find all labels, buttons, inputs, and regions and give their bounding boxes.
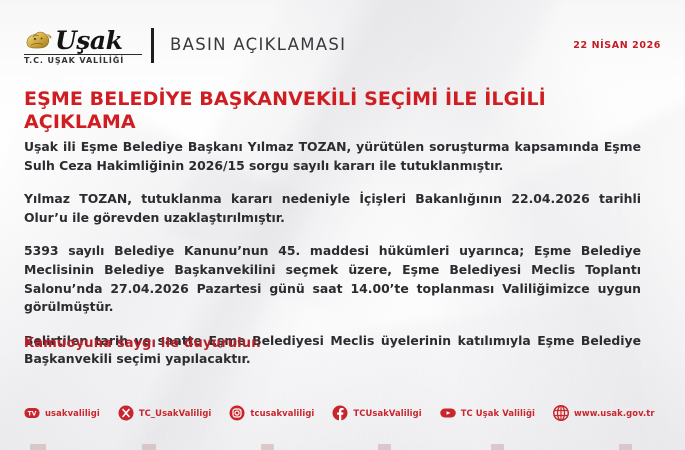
logo-wordmark: Uşak <box>55 29 122 53</box>
tv-icon: TV <box>24 405 40 421</box>
header-date: 22 NİSAN 2026 <box>573 40 661 51</box>
x-twitter-icon <box>118 405 134 421</box>
social-handle: TC Uşak Valiliği <box>461 408 535 418</box>
social-handle: usakvaliligi <box>45 408 100 418</box>
clipped-chip <box>30 444 46 450</box>
clipped-chip <box>378 444 391 450</box>
header-title: BASIN AÇIKLAMASI <box>170 35 346 54</box>
usak-coat-of-arms-icon <box>24 29 54 53</box>
social-handle: tcusakvaliligi <box>250 408 314 418</box>
social-media-bar: TV usakvaliligi TC_UsakValiligi tcusakva… <box>24 405 664 421</box>
page-header: Uşak T.C. UŞAK VALİLİĞİ BASIN AÇIKLAMASI… <box>0 0 685 80</box>
social-link-tv[interactable]: TV usakvaliligi <box>24 405 100 421</box>
clipped-chip <box>142 444 156 450</box>
globe-icon <box>553 405 569 421</box>
press-release-page: Uşak T.C. UŞAK VALİLİĞİ BASIN AÇIKLAMASI… <box>0 0 685 450</box>
social-handle: TC_UsakValiligi <box>139 408 212 418</box>
youtube-icon <box>440 405 456 421</box>
clipped-chip <box>491 444 504 450</box>
social-link-x[interactable]: TC_UsakValiligi <box>118 405 212 421</box>
social-link-facebook[interactable]: TCUsakValiligi <box>332 405 421 421</box>
logo-top-row: Uşak <box>24 27 142 53</box>
social-link-youtube[interactable]: TC Uşak Valiliği <box>440 405 535 421</box>
social-handle: TCUsakValiligi <box>353 408 421 418</box>
clipped-chip <box>261 444 274 450</box>
instagram-icon <box>229 405 245 421</box>
clipped-chip <box>619 444 632 450</box>
social-handle: www.usak.gov.tr <box>574 408 655 418</box>
body-paragraph: Yılmaz TOZAN, tutuklanma kararı nedeniyl… <box>24 190 641 227</box>
social-link-instagram[interactable]: tcusakvaliligi <box>229 405 314 421</box>
document-body: Uşak ili Eşme Belediye Başkanı Yılmaz TO… <box>24 138 641 369</box>
facebook-icon <box>332 405 348 421</box>
body-paragraph: 5393 sayılı Belediye Kanunu’nun 45. madd… <box>24 242 641 316</box>
header-divider <box>151 28 154 63</box>
body-paragraph: Uşak ili Eşme Belediye Başkanı Yılmaz TO… <box>24 138 641 175</box>
logo-subtitle: T.C. UŞAK VALİLİĞİ <box>24 54 142 65</box>
usak-governorship-logo: Uşak T.C. UŞAK VALİLİĞİ <box>24 27 142 65</box>
closing-statement: Kamuoyuna saygı ile duyurulur. <box>24 336 261 351</box>
social-link-website[interactable]: www.usak.gov.tr <box>553 405 655 421</box>
svg-text:TV: TV <box>28 410 37 417</box>
page-title: EŞME BELEDİYE BAŞKANVEKİLİ SEÇİMİ İLE İL… <box>24 88 624 134</box>
clipped-next-row <box>0 444 685 450</box>
